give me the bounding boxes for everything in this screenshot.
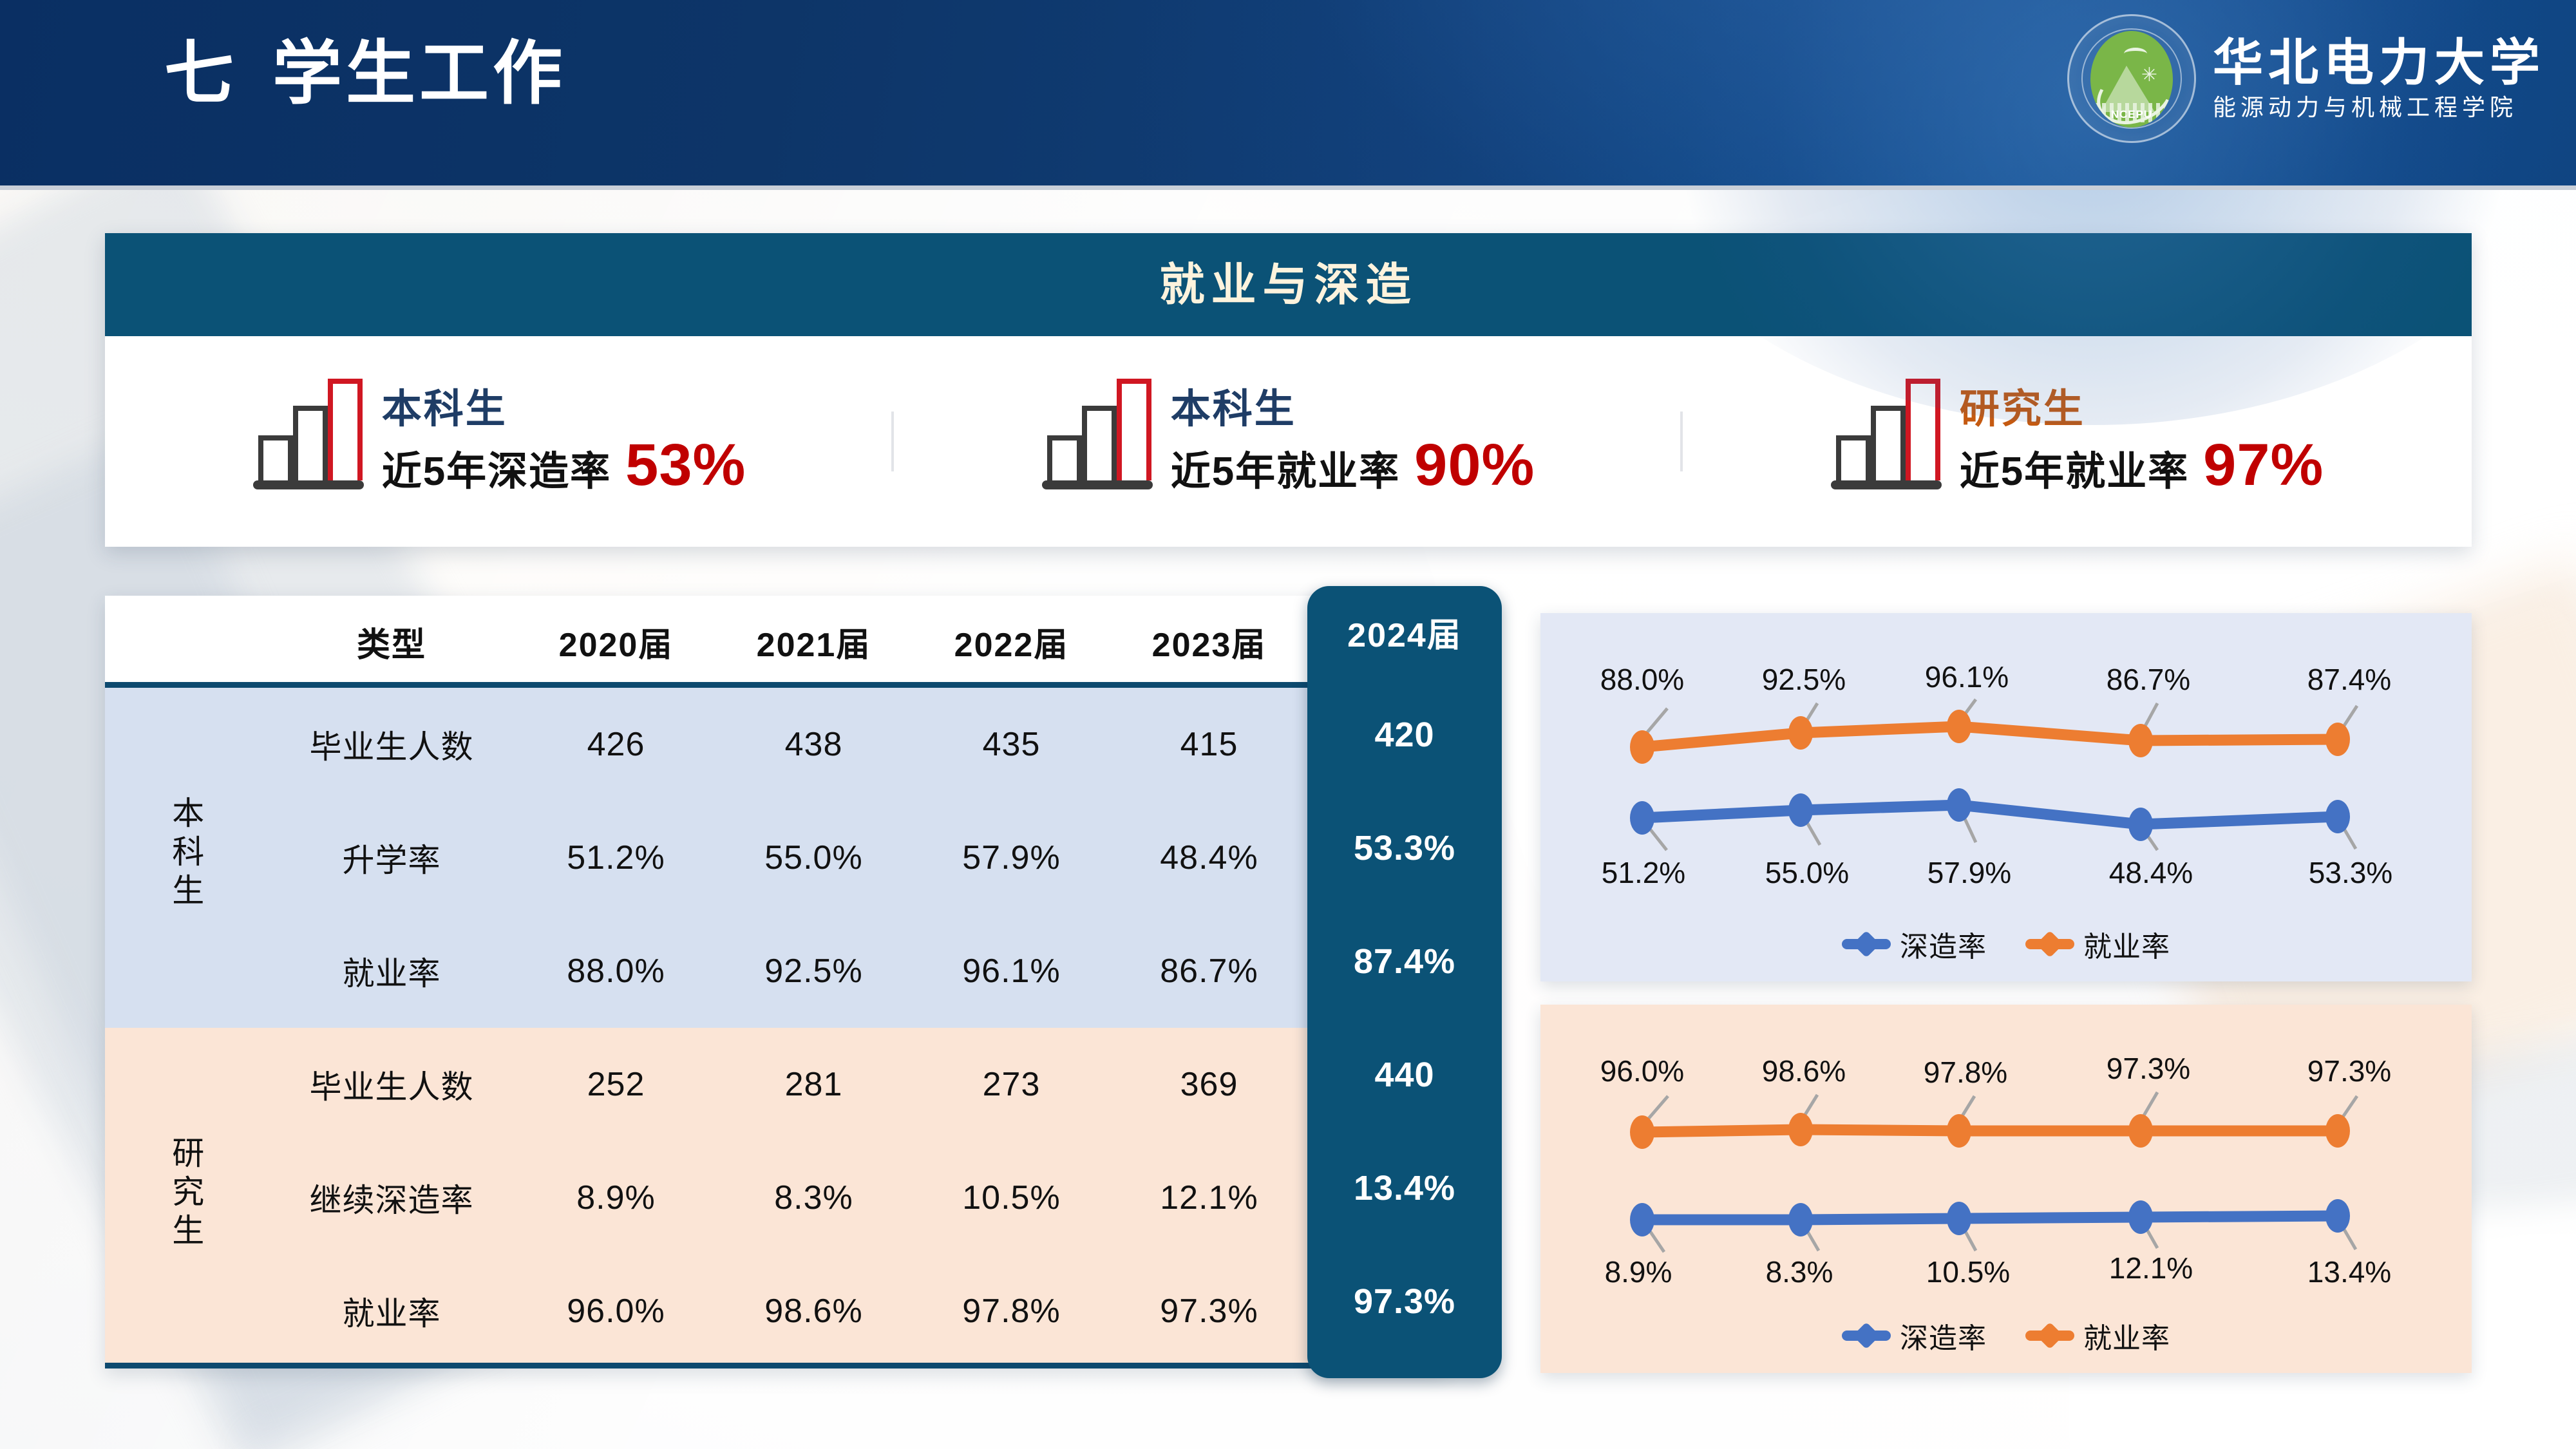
legend-label: 深造率 (1900, 1315, 1987, 1356)
data-label-employment: 97.3% (2307, 1054, 2391, 1088)
row-type: 毕业生人数 (266, 1028, 517, 1141)
data-label-employment: 87.4% (2307, 662, 2391, 697)
cell-2023: 415 (1110, 688, 1308, 801)
chart-legend: 深造率 就业率 (1540, 923, 2472, 965)
data-label-advancement: 13.4% (2307, 1255, 2391, 1289)
school-name: 能源动力与机械工程学院 (2213, 96, 2545, 119)
data-label-employment: 88.0% (1600, 662, 1684, 697)
line-employment-rate (1642, 726, 2338, 747)
data-label-advancement: 48.4% (2109, 855, 2193, 890)
data-label-advancement: 57.9% (1927, 855, 2011, 890)
highlight-column-2024: 2024届 420 53.3% 87.4% 440 13.4% 97.3% (1307, 586, 1502, 1378)
cell-2021: 98.6% (715, 1255, 913, 1368)
emblem-core: ✳ NCEPU (2090, 31, 2173, 128)
cell-2023: 48.4% (1110, 801, 1308, 914)
chart-undergraduate-trend: 88.0% 92.5% 96.1% 86.7% 87.4% 51.2% 55.0… (1540, 613, 2472, 981)
legend-item-advancement[interactable]: 深造率 (1842, 923, 1987, 965)
cell-2021: 55.0% (715, 801, 913, 914)
stat-value: 53% (625, 435, 746, 495)
header-cell-blank (105, 596, 266, 688)
stat-value: 97% (2203, 435, 2324, 495)
highlight-ug-employment: 87.4% (1354, 905, 1455, 1018)
highlight-pg-graduates: 440 (1374, 1018, 1434, 1132)
stat-label: 近5年就业率 (1171, 451, 1400, 494)
cell-2023: 369 (1110, 1028, 1308, 1141)
chart-graduate-trend: 96.0% 98.6% 97.8% 97.3% 97.3% 8.9% 8.3% … (1540, 1005, 2472, 1373)
cell-2022: 57.9% (913, 801, 1110, 914)
cell-2020: 252 (517, 1028, 715, 1141)
ncepu-emblem-icon: ✳ NCEPU (2067, 14, 2196, 143)
data-label-employment: 96.0% (1600, 1054, 1684, 1088)
data-label-advancement: 8.9% (1605, 1255, 1672, 1289)
stat-text: 本科生 近5年就业率 90% (1171, 388, 1535, 495)
line-advancement-rate (1642, 805, 2338, 824)
row-type: 继续深造率 (266, 1141, 517, 1255)
cell-2022: 97.8% (913, 1255, 1110, 1368)
header-cell-2023: 2023届 (1110, 596, 1308, 688)
university-logo: ✳ NCEPU 华北电力大学 能源动力与机械工程学院 (2067, 14, 2545, 143)
data-label-employment: 86.7% (2107, 662, 2190, 697)
cell-2020: 96.0% (517, 1255, 715, 1368)
bar-chart-icon (1042, 393, 1145, 489)
header-cell-type: 类型 (266, 596, 517, 688)
bar-chart-icon (253, 393, 356, 489)
section-title: 学生工作 (272, 34, 566, 112)
row-type: 就业率 (266, 914, 517, 1028)
stat-label: 近5年就业率 (1960, 451, 2189, 494)
data-label-employment: 98.6% (1762, 1054, 1846, 1088)
chart-legend: 深造率 就业率 (1540, 1315, 2472, 1356)
legend-marker-orange-icon (2025, 939, 2074, 949)
data-label-advancement: 53.3% (2309, 855, 2392, 890)
stat-level: 本科生 (382, 388, 746, 431)
cell-2023: 86.7% (1110, 914, 1308, 1028)
row-category-graduate: 研究生 (105, 1028, 266, 1368)
section-number: 七 (164, 34, 238, 112)
header-cell-2020: 2020届 (517, 596, 715, 688)
bar-chart-icon (1831, 393, 1934, 489)
highlight-pg-advancement: 13.4% (1354, 1132, 1455, 1245)
stat-label: 近5年深造率 (382, 451, 611, 494)
line-advancement-rate (1642, 1216, 2338, 1220)
cell-2020: 426 (517, 688, 715, 801)
table-row: 就业率 88.0% 92.5% 96.1% 86.7% (105, 914, 1504, 1028)
legend-item-employment[interactable]: 就业率 (2025, 1315, 2170, 1356)
header-underline (0, 185, 2576, 190)
cell-2022: 273 (913, 1028, 1110, 1141)
table-row: 研究生 毕业生人数 252 281 273 369 (105, 1028, 1504, 1141)
logo-text-block: 华北电力大学 能源动力与机械工程学院 (2213, 38, 2545, 119)
cell-2023: 12.1% (1110, 1141, 1308, 1255)
table-row: 就业率 96.0% 98.6% 97.8% 97.3% (105, 1255, 1504, 1368)
data-label-advancement: 51.2% (1602, 855, 1685, 890)
highlight-header: 2024届 (1347, 586, 1462, 678)
data-label-employment: 96.1% (1925, 659, 2009, 694)
legend-item-employment[interactable]: 就业率 (2025, 923, 2170, 965)
stat-level: 本科生 (1171, 388, 1535, 431)
data-label-advancement: 10.5% (1926, 1255, 2010, 1289)
data-label-employment: 92.5% (1762, 662, 1846, 697)
cell-2022: 435 (913, 688, 1110, 801)
page-title: 七学生工作 (164, 39, 566, 108)
cell-2023: 97.3% (1110, 1255, 1308, 1368)
row-type: 就业率 (266, 1255, 517, 1368)
line-employment-rate (1642, 1130, 2338, 1132)
table-header-row: 类型 2020届 2021届 2022届 2023届 (105, 596, 1504, 688)
university-name: 华北电力大学 (2213, 38, 2545, 88)
row-type: 升学率 (266, 801, 517, 914)
cell-2021: 8.3% (715, 1141, 913, 1255)
table-rule-bottom (105, 1363, 1446, 1368)
stat-card: 本科生 近5年就业率 90% (894, 388, 1683, 495)
legend-marker-blue-icon (1842, 939, 1891, 949)
legend-item-advancement[interactable]: 深造率 (1842, 1315, 1987, 1356)
header-cell-2021: 2021届 (715, 596, 913, 688)
stat-card: 本科生 近5年深造率 53% (105, 388, 894, 495)
table-rule-top (105, 682, 1446, 688)
header-cell-2022: 2022届 (913, 596, 1110, 688)
data-label-advancement: 12.1% (2109, 1251, 2193, 1285)
row-type: 毕业生人数 (266, 688, 517, 801)
legend-label: 就业率 (2083, 923, 2170, 965)
cell-2021: 281 (715, 1028, 913, 1141)
legend-marker-orange-icon (2025, 1331, 2074, 1341)
table-row: 继续深造率 8.9% 8.3% 10.5% 12.1% (105, 1141, 1504, 1255)
highlight-ug-advancement: 53.3% (1354, 791, 1455, 905)
emblem-bird-shape (2124, 48, 2147, 60)
leader-lines-employment (1643, 1092, 2357, 1124)
cell-2021: 438 (715, 688, 913, 801)
cell-2021: 92.5% (715, 914, 913, 1028)
emblem-star-icon: ✳ (2141, 66, 2157, 85)
highlight-pg-employment: 97.3% (1354, 1245, 1455, 1358)
table-row: 本科生 毕业生人数 426 438 435 415 (105, 688, 1504, 801)
highlight-ug-graduates: 420 (1374, 678, 1434, 791)
data-label-advancement: 55.0% (1765, 855, 1849, 890)
cell-2022: 10.5% (913, 1141, 1110, 1255)
cell-2020: 88.0% (517, 914, 715, 1028)
banner-title: 就业与深造 (1160, 262, 1417, 307)
stat-text: 本科生 近5年深造率 53% (382, 388, 746, 495)
emblem-acronym: NCEPU (2090, 108, 2173, 121)
row-category-undergraduate: 本科生 (105, 688, 266, 1028)
data-label-advancement: 8.3% (1766, 1255, 1833, 1289)
legend-marker-blue-icon (1842, 1331, 1891, 1341)
table-row: 升学率 51.2% 55.0% 57.9% 48.4% (105, 801, 1504, 914)
cell-2020: 51.2% (517, 801, 715, 914)
employment-data-table: 类型 2020届 2021届 2022届 2023届 本科生 毕业生人数 426… (105, 596, 1446, 1368)
stat-value: 90% (1414, 435, 1535, 495)
cell-2020: 8.9% (517, 1141, 715, 1255)
legend-label: 深造率 (1900, 923, 1987, 965)
legend-label: 就业率 (2083, 1315, 2170, 1356)
cell-2022: 96.1% (913, 914, 1110, 1028)
data-label-employment: 97.8% (1924, 1055, 2007, 1090)
data-label-employment: 97.3% (2107, 1051, 2190, 1086)
